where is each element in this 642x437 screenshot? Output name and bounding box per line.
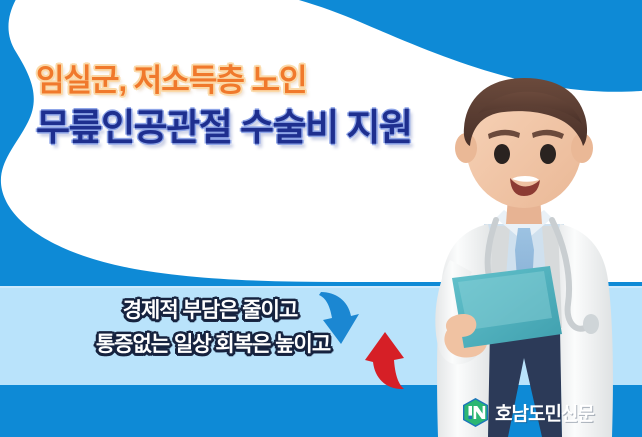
headline-line-1: 임실군, 저소득층 노인 bbox=[36, 62, 556, 100]
headline-line-2: 무릎인공관절 수술비 지원 bbox=[36, 106, 556, 150]
red-up-arrow-icon bbox=[362, 330, 408, 392]
promotional-poster: 임실군, 저소득층 노인 무릎인공관절 수술비 지원 경제적 부담은 줄이고 통… bbox=[0, 0, 642, 437]
hexagon-n-logo-icon bbox=[462, 398, 489, 427]
headline: 임실군, 저소득층 노인 무릎인공관절 수술비 지원 bbox=[36, 62, 556, 150]
newspaper-logo[interactable]: 호남도민신문 bbox=[462, 398, 594, 427]
blue-down-arrow-icon bbox=[315, 290, 361, 350]
newspaper-logo-text: 호남도민신문 bbox=[495, 399, 594, 426]
